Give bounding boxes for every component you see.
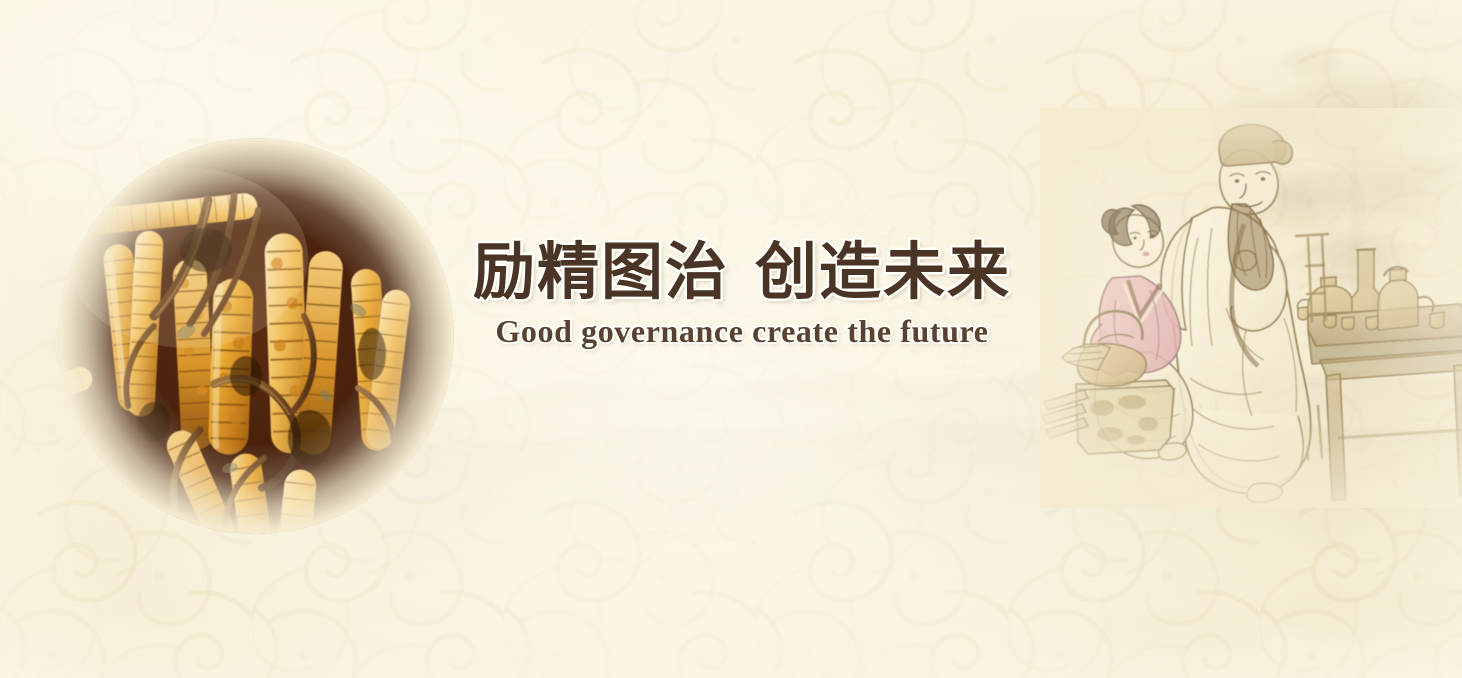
tcm-painting [1040,108,1462,508]
promotional-banner: 励精图治创造未来 Good governance create the futu… [0,0,1462,678]
cordyceps-photo [58,138,454,534]
